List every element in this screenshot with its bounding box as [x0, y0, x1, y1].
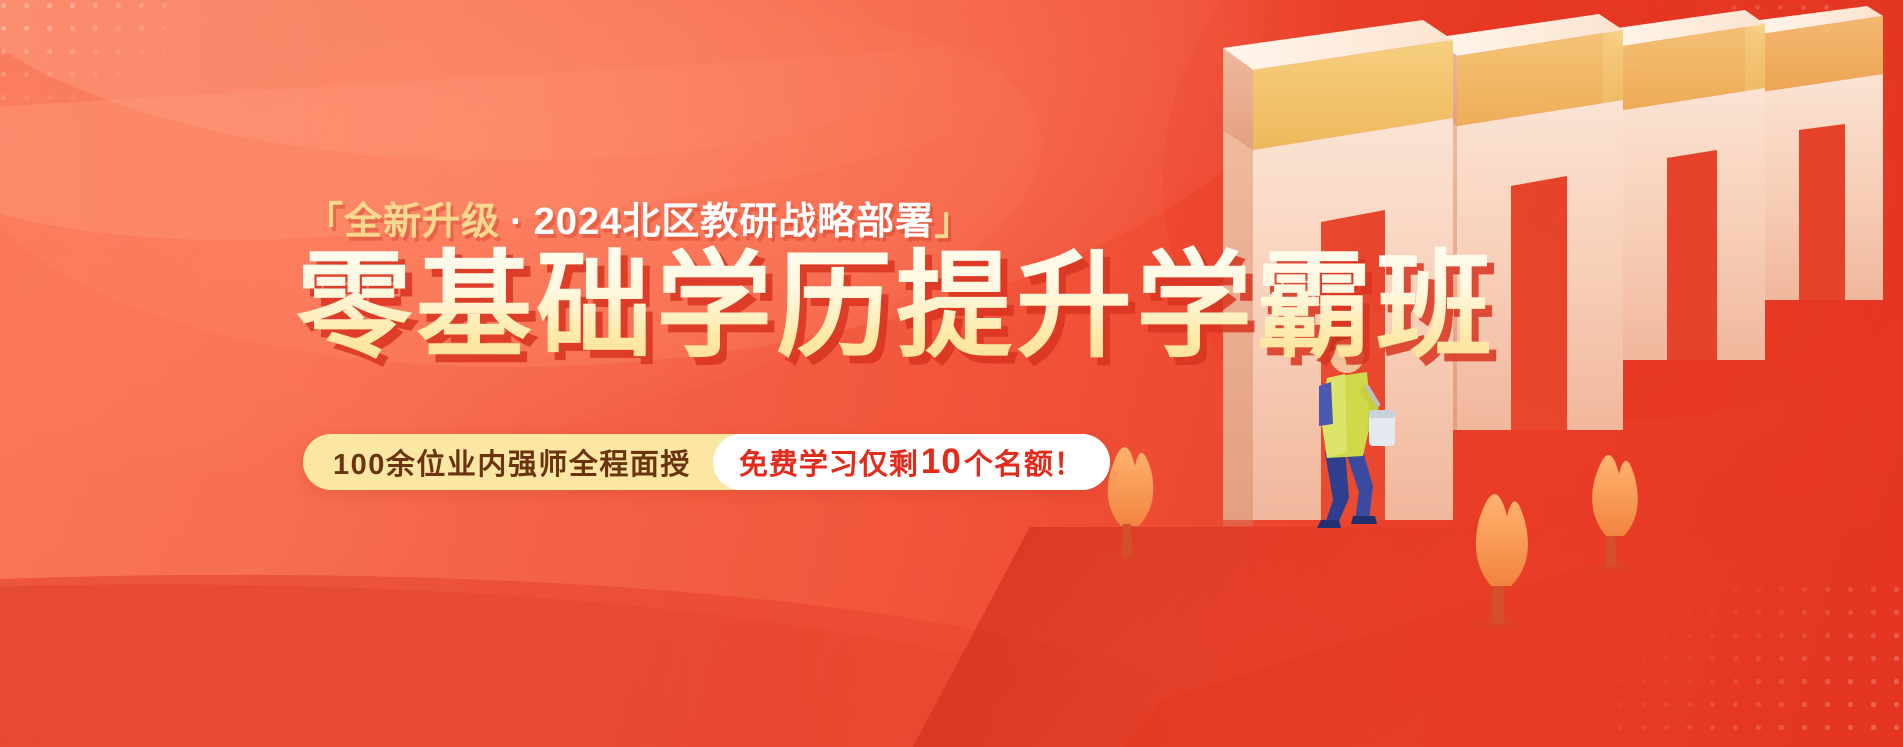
pill-seats-suffix: 个名额！	[964, 441, 1084, 483]
ground-shadow	[1123, 560, 1903, 747]
pill-seats-prefix: 免费学习仅剩	[739, 441, 919, 483]
pill-teachers-label: 100余位业内强师全程面授	[303, 441, 713, 483]
pill-seats-number: 10	[919, 442, 964, 482]
banner-subtitle: 「全新升级·2024北区教研战略部署」	[305, 190, 973, 245]
tree-middle	[1471, 494, 1528, 629]
banner-highlight-pill: 100余位业内强师全程面授 免费学习仅剩10个名额！	[303, 434, 1110, 490]
banner-title: 零基础学历提升学霸班	[296, 238, 1496, 375]
subtitle-separator: ·	[500, 201, 534, 243]
subtitle-bracket-open: 「	[305, 201, 344, 243]
dot-pattern-top-right	[1723, 0, 1843, 86]
book-arch-3	[1603, 10, 1765, 360]
tree-left	[1105, 447, 1153, 562]
subtitle-highlight: 全新升级	[344, 201, 500, 243]
pill-seats-badge[interactable]: 免费学习仅剩10个名额！	[713, 434, 1110, 490]
subtitle-bracket-close: 」	[934, 201, 973, 243]
book-arch-4	[1745, 6, 1883, 300]
subtitle-rest: 2024北区教研战略部署	[534, 201, 935, 243]
promo-banner: 「全新升级·2024北区教研战略部署」 零基础学历提升学霸班 100余位业内强师…	[0, 0, 1903, 747]
banner-text-content: 「全新升级·2024北区教研战略部署」 零基础学历提升学霸班 100余位业内强师…	[0, 0, 1100, 747]
dot-pattern-bottom-right	[1609, 578, 1903, 747]
tree-right	[1589, 455, 1638, 572]
